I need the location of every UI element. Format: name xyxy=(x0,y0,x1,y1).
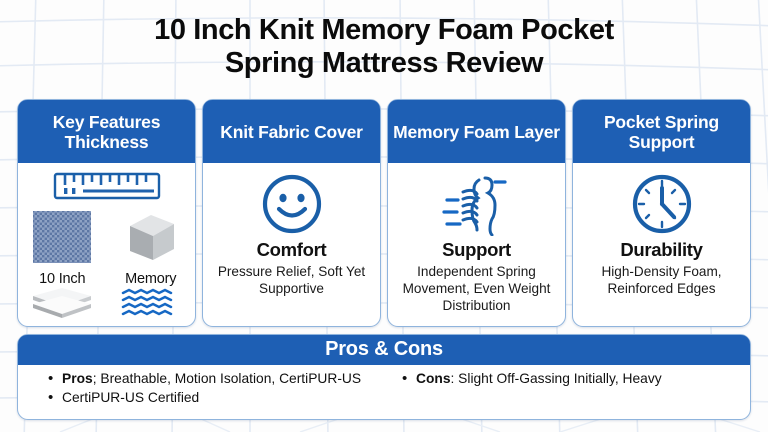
card-desc-support: Independent Spring Movement, Even Weight… xyxy=(386,264,568,315)
pros-cons-columns: Pros; Breathable, Motion Isolation, Cert… xyxy=(18,365,750,408)
card-header-memory-foam: Memory Foam Layer xyxy=(388,100,565,163)
card-desc-durability: High-Density Foam, Reinforced Edges xyxy=(571,264,753,298)
feature-cards-row: Key Features Thickness xyxy=(17,99,751,327)
smiley-face-icon xyxy=(261,171,323,237)
pros-text: Breathable, Motion Isolation, CertiPUR-U… xyxy=(97,371,362,386)
pros-cons-header: Pros & Cons xyxy=(18,335,750,365)
clock-icon xyxy=(630,171,694,237)
card-header-key-features: Key Features Thickness xyxy=(18,100,195,163)
card-title-durability: Durability xyxy=(620,239,702,261)
gray-cube-icon xyxy=(122,210,180,269)
pros-cons-panel: Pros & Cons Pros; Breathable, Motion Iso… xyxy=(17,334,751,420)
card-knit-fabric-cover[interactable]: Knit Fabric Cover Comfort Pressure Relie… xyxy=(202,99,381,327)
key-features-icon-grid: 10 Inch Memory xyxy=(18,210,195,323)
card-pocket-spring-support[interactable]: Pocket Spring Support xyxy=(572,99,751,327)
wave-lines-icon xyxy=(120,288,182,323)
title-line-1: 10 Inch Knit Memory Foam Pocket xyxy=(154,14,614,46)
page-title: 10 Inch Knit Memory Foam Pocket Spring M… xyxy=(0,14,768,80)
pros-item: Pros; Breathable, Motion Isolation, Cert… xyxy=(48,370,378,388)
title-line-2: Spring Mattress Review xyxy=(0,47,768,80)
card-body-memory-foam: Support Independent Spring Movement, Eve… xyxy=(388,163,565,326)
pros-text: CertiPUR-US Certified xyxy=(62,390,199,405)
card-title-comfort: Comfort xyxy=(257,239,327,261)
card-body-key-features: 10 Inch Memory xyxy=(18,163,195,326)
cons-item: Cons: Slight Off-Gassing Initially, Heav… xyxy=(402,370,744,388)
body-spring-support-icon xyxy=(441,171,513,237)
cons-label: Cons xyxy=(416,371,451,386)
key-features-label-right: Memory xyxy=(125,271,176,287)
key-features-label-left: 10 Inch xyxy=(39,271,85,287)
fabric-swatch-icon xyxy=(32,210,92,269)
layered-sheets-icon xyxy=(29,288,95,323)
cons-text: Slight Off-Gassing Initially, Heavy xyxy=(454,371,661,386)
card-title-support: Support xyxy=(442,239,511,261)
cons-column: Cons: Slight Off-Gassing Initially, Heav… xyxy=(384,370,750,408)
card-header-knit-fabric: Knit Fabric Cover xyxy=(203,100,380,163)
card-body-knit-fabric: Comfort Pressure Relief, Soft Yet Suppor… xyxy=(203,163,380,326)
card-header-pocket-spring: Pocket Spring Support xyxy=(573,100,750,163)
ruler-icon xyxy=(53,171,161,206)
pros-label: Pros xyxy=(62,371,93,386)
pros-column: Pros; Breathable, Motion Isolation, Cert… xyxy=(18,370,384,408)
card-body-pocket-spring: Durability High-Density Foam, Reinforced… xyxy=(573,163,750,326)
card-desc-comfort: Pressure Relief, Soft Yet Supportive xyxy=(201,264,383,298)
card-key-features[interactable]: Key Features Thickness xyxy=(17,99,196,327)
pros-item: CertiPUR-US Certified xyxy=(48,389,378,407)
card-memory-foam-layer[interactable]: Memory Foam Layer xyxy=(387,99,566,327)
